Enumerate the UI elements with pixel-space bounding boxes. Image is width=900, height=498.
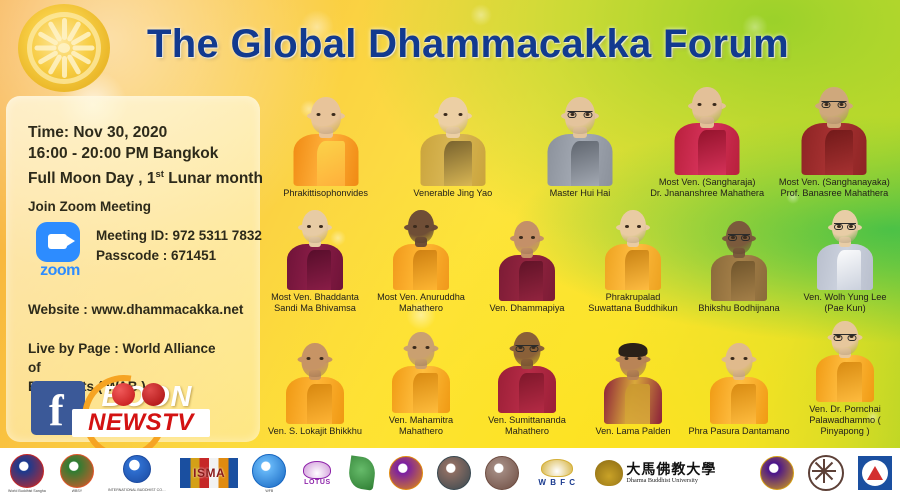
sponsor-logo-bar: World Buddhist SanghaWBSYINTERNATIONAL B… [0, 448, 900, 498]
logo-mark [485, 456, 519, 490]
speaker-card: Ven. Lama Palden [580, 317, 686, 437]
speaker-name: Most Ven. BhaddantaSandi Ma Bhivamsa [263, 292, 367, 314]
event-info-panel: Time: Nov 30, 2020 16:00 - 20:00 PM Bang… [6, 96, 260, 442]
speaker-name: Ven. Mahamitra Mahathero [369, 415, 473, 437]
speaker-hair [619, 343, 648, 357]
speaker-name: Ven. Dr. PornchaiPalawadhammo ( Pinyapon… [793, 404, 897, 437]
speaker-name-line: Ven. Mahamitra Mahathero [369, 415, 473, 437]
speaker-eyes [731, 357, 748, 360]
wheel-spoke [73, 46, 95, 51]
speaker-head [302, 343, 329, 377]
newstv-wordmark: NEWSTV [72, 409, 210, 437]
speaker-name: Phra Pasura Dantamano [687, 426, 791, 437]
speaker-sash [571, 141, 599, 186]
speaker-photo [797, 84, 871, 175]
speaker-name-line: Most Ven. (Sanghanayaka) [772, 177, 897, 188]
speaker-name-line: Most Ven. Bhaddanta [263, 292, 367, 303]
speaker-glasses-icon [822, 101, 847, 108]
speaker-photo [596, 340, 670, 424]
speaker-head [726, 343, 753, 377]
wheel-spoke [62, 56, 67, 78]
speaker-name: Ven. S. Lokajit Bhikkhu [263, 426, 367, 437]
wheel-spoke [62, 18, 67, 40]
lunar-prefix: Full Moon Day , 1 [28, 170, 155, 187]
logo-mark [389, 456, 423, 490]
lotus-icon [541, 459, 573, 477]
speaker-card: Venerable Jing Yao [389, 84, 516, 199]
speaker-photo [702, 219, 776, 301]
logo-text: 大馬佛教大學Dharma Buddhist University [626, 462, 716, 484]
speaker-name-line: Ven. Lama Palden [581, 426, 685, 437]
speaker-eyes [316, 113, 335, 116]
speaker-grid: PhrakittisophonvidesVenerable Jing YaoMa… [262, 84, 898, 444]
speaker-photo [278, 340, 352, 424]
speaker-sash [519, 261, 543, 301]
speaker-name-line: (Pae Kun) [793, 303, 897, 314]
logo-mark: 大馬佛教大學Dharma Buddhist University [595, 457, 745, 489]
poster-header: The Global Dhammacakka Forum [0, 0, 900, 88]
triangle-icon [862, 460, 888, 486]
triangle-emblem-logo [858, 451, 892, 495]
logo-mark [808, 455, 844, 491]
speaker-name-line: Master Hui Hai [517, 188, 642, 199]
speaker-row-1: PhrakittisophonvidesVenerable Jing YaoMa… [262, 84, 898, 199]
logo-text: ISMA [193, 466, 225, 480]
dark-circle-logo [437, 451, 471, 495]
speaker-name: Most Ven. AnuruddhaMahathero [369, 292, 473, 314]
speaker-sash [307, 250, 331, 290]
speaker-name: Bhikshu Bodhijnana [687, 303, 791, 314]
speaker-card: Most Ven. (Sangharaja)Dr. Jnananshree Ma… [644, 84, 771, 199]
speaker-card: Ven. Dr. PornchaiPalawadhammo ( Pinyapon… [792, 317, 898, 437]
speaker-photo [278, 208, 352, 290]
speaker-card: Ven. S. Lokajit Bhikkhu [262, 317, 368, 437]
speaker-name-line: Ven. Dhammapiya [475, 303, 579, 314]
speaker-glasses-icon [834, 334, 857, 341]
speaker-sash [837, 250, 861, 290]
lunar-ordinal: st [155, 169, 163, 180]
facebook-glyph: f [49, 389, 64, 433]
speaker-sash [625, 250, 649, 290]
speaker-card: Ven. Wolh Yung Lee(Pae Kun) [792, 202, 898, 314]
speaker-sash [731, 261, 755, 301]
speaker-name-line: Prof. Banasree Mahathera [772, 188, 897, 199]
world-buddhist-sangha-logo: World Buddhist Sangha [8, 451, 46, 495]
speaker-name: Ven. SumittanandaMahathero [475, 415, 579, 437]
speaker-card: Ven. Mahamitra Mahathero [368, 317, 474, 437]
speaker-photo [490, 219, 564, 301]
logo-mark: LOTUS [300, 458, 334, 488]
speaker-eyes [625, 225, 641, 228]
event-date: Time: Nov 30, 2020 [28, 122, 263, 143]
speaker-name-line: Mahathero [475, 426, 579, 437]
globe-icon [112, 383, 135, 406]
speaker-glasses-icon [728, 234, 750, 241]
logo-mark [858, 456, 892, 490]
speaker-sash [307, 384, 332, 424]
speaker-name: Venerable Jing Yao [390, 188, 515, 199]
speaker-name-line: Ven. S. Lokajit Bhikkhu [263, 426, 367, 437]
speaker-glasses-icon [567, 111, 592, 118]
speaker-sash [413, 250, 437, 290]
event-time: 16:00 - 20:00 PM Bangkok [28, 143, 263, 164]
dharma-buddhist-university-logo: 大馬佛教大學Dharma Buddhist University [595, 451, 745, 495]
speaker-eyes [519, 236, 535, 239]
speaker-name-line: Sandi Ma Bhivamsa [263, 303, 367, 314]
speaker-name-line: Phra Pasura Dantamano [687, 426, 791, 437]
isma-logo: ISMA [180, 451, 238, 495]
speaker-card: Phrakittisophonvides [262, 84, 389, 199]
speaker-card: Ven. Dhammapiya [474, 202, 580, 314]
speaker-card: Most Ven. AnuruddhaMahathero [368, 202, 474, 314]
speaker-name-line: Mahathero [369, 303, 473, 314]
logo-mark [347, 455, 377, 490]
speaker-row-2: Most Ven. BhaddantaSandi Ma BhivamsaMost… [262, 202, 898, 314]
lotus-icon [303, 461, 331, 479]
buddhist-order-logo [389, 451, 423, 495]
logo-caption: WBSY [72, 489, 83, 493]
speaker-photo [543, 94, 617, 186]
logo-caption: INTERNATIONAL BUDDHIST CONFEDERATION [108, 488, 166, 492]
speaker-photo [596, 208, 670, 290]
wfb-logo: WFB [252, 451, 286, 495]
logo-mark [60, 454, 94, 488]
speaker-card: Phra Pasura Dantamano [686, 317, 792, 437]
join-zoom-label: Join Zoom Meeting [28, 199, 151, 214]
speaker-name: Phrakittisophonvides [263, 188, 388, 199]
speaker-sash [519, 373, 544, 413]
speaker-name-line: Venerable Jing Yao [390, 188, 515, 199]
speaker-name: Ven. Dhammapiya [475, 303, 579, 314]
speaker-eyes [698, 103, 717, 106]
speaker-photo [808, 208, 882, 290]
lotus-logo: LOTUS [300, 451, 334, 495]
lunar-suffix: Lunar month [164, 170, 263, 187]
globe-icon [123, 455, 151, 483]
speaker-card: PhrakrupaladSuwattana Buddhikun [580, 202, 686, 314]
speaker-name-line: Ven. Dr. Pornchai [793, 404, 897, 415]
bodhi-leaf-logo [349, 451, 375, 495]
speaker-photo [384, 208, 458, 290]
page-title: The Global Dhammacakka Forum [118, 12, 818, 76]
logo-mark [760, 456, 794, 490]
speaker-name-line: Ven. Wolh Yung Lee [793, 292, 897, 303]
speaker-photo [384, 329, 458, 413]
dhamma-wheel-icon [18, 4, 110, 92]
myanmar-sangha-logo [485, 451, 519, 495]
speaker-sash [625, 384, 650, 424]
logo-text: W B F C [538, 478, 576, 487]
meeting-id: Meeting ID: 972 5311 7832 [96, 226, 262, 246]
speaker-row-3: Ven. S. Lokajit BhikkhuVen. Mahamitra Ma… [262, 317, 898, 437]
speaker-name: Most Ven. (Sangharaja)Dr. Jnananshree Ma… [645, 177, 770, 199]
speaker-glasses-icon [516, 345, 539, 352]
speaker-sash [837, 362, 862, 402]
logo-text: LOTUS [304, 479, 331, 486]
speaker-name-line: Palawadhammo ( Pinyapong ) [793, 415, 897, 437]
speaker-sash [317, 141, 345, 186]
speaker-card: Master Hui Hai [516, 84, 643, 199]
logo-mark: W B F C [533, 456, 581, 490]
speaker-card: Most Ven. (Sanghanayaka)Prof. Banasree M… [771, 84, 898, 199]
zoom-logo[interactable]: zoom [32, 222, 92, 280]
speaker-head [408, 332, 435, 366]
speaker-card: Bhikshu Bodhijnana [686, 202, 792, 314]
logo-caption: WFB [265, 489, 273, 493]
speaker-card: Ven. SumittanandaMahathero [474, 317, 580, 437]
speaker-name: Master Hui Hai [517, 188, 642, 199]
zoom-credentials: Meeting ID: 972 5311 7832 Passcode : 671… [96, 226, 262, 266]
speaker-name-line: Most Ven. Anuruddha [369, 292, 473, 303]
speaker-eyes [307, 357, 324, 360]
speaker-name-line: Phrakittisophonvides [263, 188, 388, 199]
logo-mark [10, 454, 44, 488]
speaker-photo [808, 318, 882, 402]
globe-icon [142, 383, 165, 406]
speaker-name: PhrakrupaladSuwattana Buddhikun [581, 292, 685, 314]
website-link[interactable]: Website : www.dhammacakka.net [28, 302, 243, 317]
speaker-sash [731, 384, 756, 424]
speaker-name-line: Dr. Jnananshree Mahathera [645, 188, 770, 199]
speaker-eyes [625, 357, 642, 360]
international-buddhist-confederation-logo: INTERNATIONAL BUDDHIST CONFEDERATION [108, 451, 166, 495]
speaker-name: Ven. Lama Palden [581, 426, 685, 437]
logo-mark [115, 455, 159, 487]
speaker-card: Most Ven. BhaddantaSandi Ma Bhivamsa [262, 202, 368, 314]
logo-mark [437, 456, 471, 490]
poster-canvas: The Global Dhammacakka Forum Time: Nov 3… [0, 0, 900, 498]
event-time-block: Time: Nov 30, 2020 16:00 - 20:00 PM Bang… [28, 122, 263, 189]
speaker-eyes [413, 225, 429, 228]
event-lunar-note: Full Moon Day , 1st Lunar month [28, 164, 263, 189]
shield-emblem-logo [760, 451, 794, 495]
speaker-sash [413, 373, 438, 413]
speaker-photo [490, 329, 564, 413]
lotus-icon [595, 460, 623, 486]
boon-newstv-logo: BOON NEWSTV [66, 373, 216, 449]
speaker-name-line: Phrakrupalad [581, 292, 685, 303]
speaker-name-line: Most Ven. (Sangharaja) [645, 177, 770, 188]
logo-mark: ISMA [180, 458, 238, 488]
speaker-name-line: Suwattana Buddhikun [581, 303, 685, 314]
dhamma-wheel-logo [808, 451, 844, 495]
speaker-photo [670, 84, 744, 175]
speaker-eyes [443, 113, 462, 116]
speaker-name-line: Bhikshu Bodhijnana [687, 303, 791, 314]
speaker-eyes [307, 225, 323, 228]
speaker-sash [698, 130, 726, 175]
meeting-passcode: Passcode : 671451 [96, 246, 262, 266]
zoom-wordmark: zoom [32, 262, 88, 280]
speaker-name-line: Ven. Sumittananda [475, 415, 579, 426]
speaker-sash [444, 141, 472, 186]
speaker-photo [416, 94, 490, 186]
video-camera-icon [36, 222, 80, 262]
wbfc-logo: W B F C [533, 451, 581, 495]
speaker-name: Ven. Wolh Yung Lee(Pae Kun) [793, 292, 897, 314]
live-by-line-1: Live by Page : World Alliance of [28, 339, 228, 377]
speaker-photo [702, 340, 776, 424]
speaker-glasses-icon [834, 223, 856, 230]
speaker-name: Most Ven. (Sanghanayaka)Prof. Banasree M… [772, 177, 897, 199]
wheel-spoke [35, 46, 57, 51]
speaker-sash [825, 130, 853, 175]
logo-caption: World Buddhist Sangha [8, 489, 46, 493]
speaker-photo [289, 94, 363, 186]
speaker-eyes [413, 346, 430, 349]
logo-mark [252, 454, 286, 488]
wbsy-logo: WBSY [60, 451, 94, 495]
